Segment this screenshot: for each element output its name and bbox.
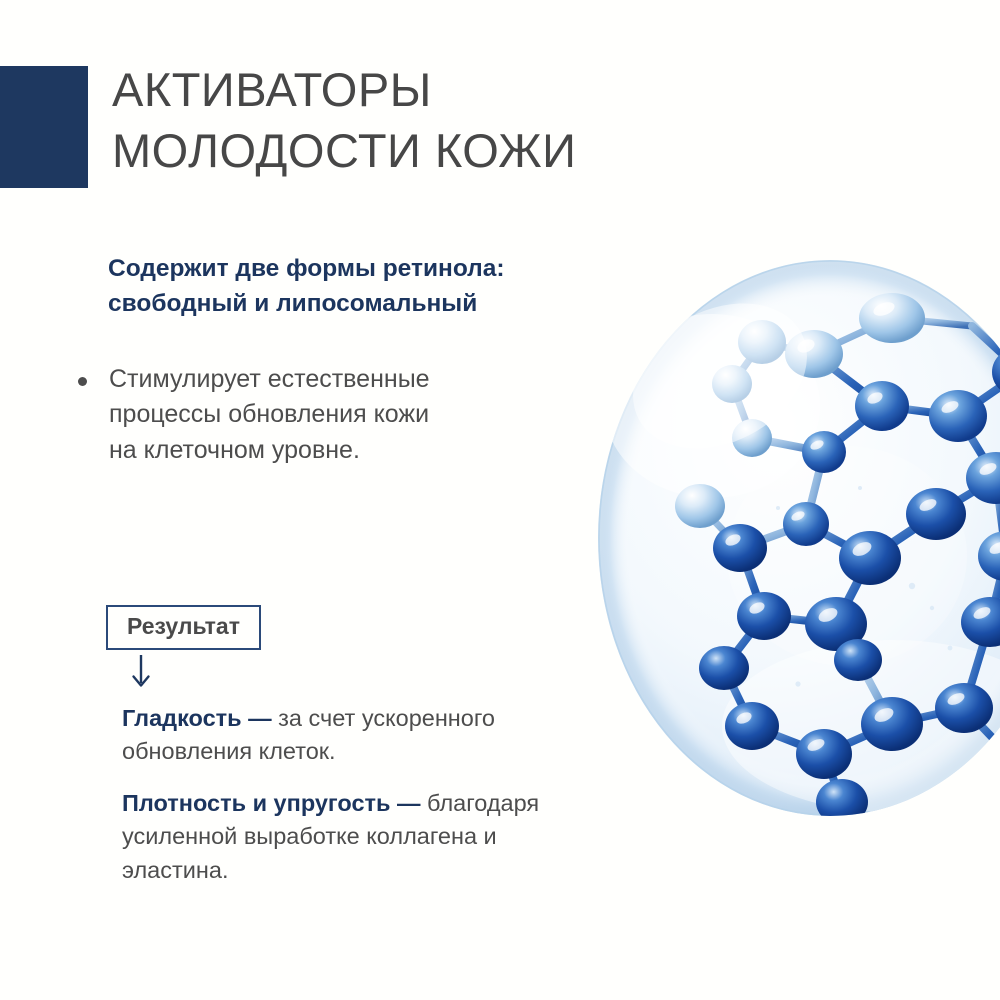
molecule-sphere-image xyxy=(592,256,1000,822)
bullet-item-text: Стимулирует естественные процессы обновл… xyxy=(109,362,430,468)
bullet-list-item: Стимулирует естественные процессы обновл… xyxy=(78,362,598,468)
page-title: АКТИВАТОРЫ МОЛОДОСТИ КОЖИ xyxy=(112,60,752,181)
result-item-heading: Плотность и упругость — xyxy=(122,790,421,816)
lead-statement: Содержит две формы ретинола: свободный и… xyxy=(108,252,608,322)
poster-canvas: АКТИВАТОРЫ МОЛОДОСТИ КОЖИ Содержит две ф… xyxy=(0,0,1000,1000)
result-item: Гладкость — за счет ускоренного обновлен… xyxy=(122,702,602,769)
result-label-box: Результат xyxy=(106,605,261,650)
result-label-text: Результат xyxy=(127,614,240,639)
bullet-dot-icon xyxy=(78,377,87,386)
arrow-down-icon xyxy=(126,654,156,690)
navy-accent-block xyxy=(0,66,88,188)
result-item-heading: Гладкость — xyxy=(122,705,272,731)
result-item: Плотность и упругость — благодаря усилен… xyxy=(122,787,602,887)
